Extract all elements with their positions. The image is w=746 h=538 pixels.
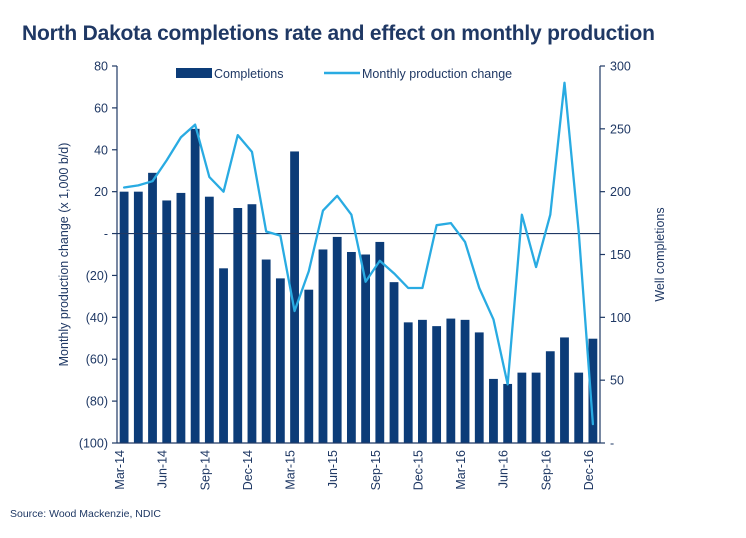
bar-Feb-16[interactable]: [446, 319, 455, 443]
y-tick-label-left: 60: [94, 101, 108, 115]
legend-swatch-completions: [176, 68, 212, 78]
y-tick-label-left: (60): [86, 353, 108, 367]
bar-Oct-14[interactable]: [219, 268, 228, 443]
bar-Nov-16[interactable]: [574, 373, 583, 443]
bar-May-15[interactable]: [319, 249, 328, 443]
x-tick-label-Sep-16: Sep-16: [539, 450, 553, 490]
y-tick-label-right: 150: [610, 248, 631, 262]
bar-Jun-15[interactable]: [333, 237, 342, 443]
y-tick-label-right: 100: [610, 311, 631, 325]
y-tick-label-left: -: [104, 227, 108, 241]
bar-Oct-15[interactable]: [390, 282, 399, 443]
bar-Dec-15[interactable]: [418, 320, 427, 443]
x-tick-label-Dec-14: Dec-14: [241, 450, 255, 490]
x-tick-label-Sep-15: Sep-15: [369, 450, 383, 490]
bar-May-16[interactable]: [489, 379, 498, 443]
source-note: Source: Wood Mackenzie, NDIC: [10, 508, 161, 520]
x-tick-label-Mar-15: Mar-15: [284, 450, 298, 490]
y-tick-label-left: (100): [79, 437, 108, 451]
bar-Jun-16[interactable]: [503, 384, 512, 443]
bar-Aug-14[interactable]: [191, 129, 200, 443]
bar-Jan-16[interactable]: [432, 326, 441, 443]
y-axis-title-left: Monthly production change (x 1,000 b/d): [57, 143, 71, 367]
y-tick-label-right: -: [610, 437, 614, 451]
bar-Dec-14[interactable]: [248, 204, 257, 443]
bar-Nov-15[interactable]: [404, 322, 413, 443]
bar-Aug-16[interactable]: [532, 373, 541, 443]
y-tick-label-left: 80: [94, 60, 108, 74]
x-tick-label-Sep-14: Sep-14: [198, 450, 212, 490]
bar-Feb-15[interactable]: [276, 278, 285, 443]
legend-label-completions: Completions: [214, 67, 283, 81]
legend: CompletionsMonthly production change: [176, 67, 512, 81]
y-tick-label-left: (80): [86, 395, 108, 409]
x-tick-label-Jun-16: Jun-16: [497, 450, 511, 488]
bar-Jul-16[interactable]: [517, 373, 526, 443]
bar-Mar-16[interactable]: [461, 320, 470, 443]
bar-Apr-15[interactable]: [304, 290, 313, 443]
bar-Oct-16[interactable]: [560, 337, 569, 443]
y-tick-label-left: 40: [94, 143, 108, 157]
y-tick-label-right: 250: [610, 122, 631, 136]
x-tick-label-Jun-14: Jun-14: [156, 450, 170, 488]
y-tick-label-left: (20): [86, 269, 108, 283]
x-tick-label-Dec-15: Dec-15: [411, 450, 425, 490]
bar-Apr-14[interactable]: [134, 192, 143, 443]
bar-series: [120, 129, 598, 443]
bar-Mar-14[interactable]: [120, 192, 129, 443]
y-tick-label-right: 200: [610, 185, 631, 199]
x-tick-label-Jun-15: Jun-15: [326, 450, 340, 488]
x-tick-label-Dec-16: Dec-16: [582, 450, 596, 490]
bar-Jun-14[interactable]: [162, 200, 171, 443]
y-tick-label-right: 50: [610, 374, 624, 388]
bar-Nov-14[interactable]: [233, 208, 242, 443]
page-title: North Dakota completions rate and effect…: [22, 22, 655, 46]
bar-Apr-16[interactable]: [475, 332, 484, 443]
y-tick-label-left: (40): [86, 311, 108, 325]
x-tick-label-Mar-14: Mar-14: [113, 450, 127, 490]
chart-container: North Dakota completions rate and effect…: [0, 0, 746, 538]
bar-Jul-15[interactable]: [347, 252, 356, 443]
y-axis-title-right: Well completions: [653, 207, 667, 301]
y-tick-label-left: 20: [94, 185, 108, 199]
bar-Sep-16[interactable]: [546, 351, 555, 443]
bar-Sep-15[interactable]: [375, 242, 384, 443]
bar-Jan-15[interactable]: [262, 260, 271, 443]
legend-label-production-change: Monthly production change: [362, 67, 512, 81]
x-tick-label-Mar-16: Mar-16: [454, 450, 468, 490]
bar-Jul-14[interactable]: [177, 193, 186, 443]
y-tick-label-right: 300: [610, 60, 631, 74]
bar-May-14[interactable]: [148, 173, 157, 443]
chart-canvas: 80604020-(20)(40)(60)(80)(100)3002502001…: [0, 0, 746, 500]
